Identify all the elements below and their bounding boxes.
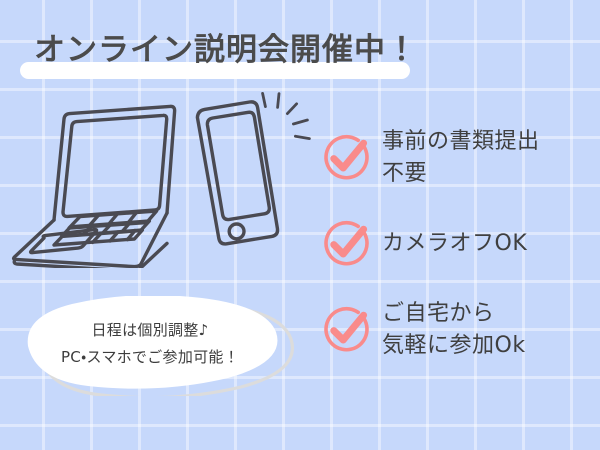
note-bubble-line-1: 日程は個別調整♪ (92, 317, 209, 344)
check-circle-icon (318, 302, 374, 358)
checklist-item-label: 事前の書類提出 不要 (382, 126, 600, 190)
check-circle-icon (318, 216, 374, 272)
note-bubble-line-2: PC・スマホでご参加可能！ (61, 344, 239, 371)
checklist-item-0: 事前の書類提出 不要 (318, 112, 600, 204)
device-illustration-group (6, 88, 316, 268)
check-circle-icon (318, 130, 374, 186)
sparkle-lines-icon (263, 93, 310, 138)
page-title: オンライン説明会開催中！ (34, 28, 418, 72)
checklist-item-label: カメラオフOK (382, 228, 600, 260)
title-block: オンライン説明会開催中！ (0, 28, 600, 88)
laptop-illustration (14, 106, 175, 268)
checklist-item-label: ご自宅から 気軽に参加Ok (382, 298, 600, 362)
checklist-item-2: ご自宅から 気軽に参加Ok (318, 284, 600, 376)
checklist-item-1: カメラオフOK (318, 204, 600, 284)
poster-canvas: オンライン説明会開催中！ (0, 0, 600, 450)
smartphone-illustration (197, 102, 277, 244)
checklist: 事前の書類提出 不要 カメラオフOK ご自宅から 気軽に参加Ok (318, 112, 600, 372)
note-bubble: 日程は個別調整♪ PC・スマホでご参加可能！ (14, 296, 304, 396)
note-bubble-text: 日程は個別調整♪ PC・スマホでご参加可能！ (14, 296, 286, 392)
